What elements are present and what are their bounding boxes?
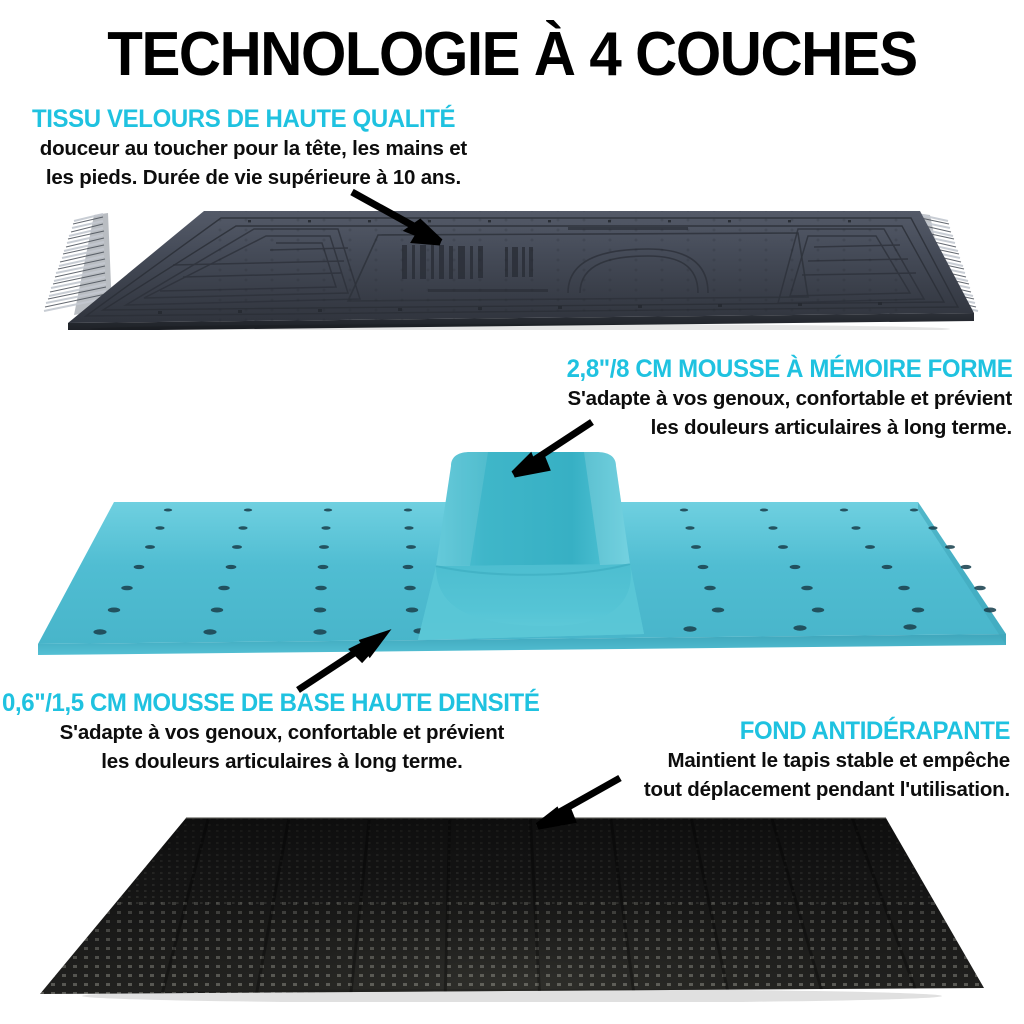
callout-base-foam-line-2: les douleurs articulaires à long terme. [2,747,562,776]
callout-velour: TISSU VELOURS DE HAUTE QUALITÉ douceur a… [32,104,473,192]
anti-slip-graphic [40,812,984,1002]
callout-base-foam-heading: 0,6"/1,5 CM MOUSSE DE BASE HAUTE DENSITÉ [2,688,539,718]
callout-anti-slip-line-1: Maintient le tapis stable et empêche [644,746,1010,775]
callout-memory-foam-heading: 2,8"/8 CM MOUSSE À MÉMOIRE FORME [566,354,1012,384]
callout-velour-line-1: douceur au toucher pour la tête, les mai… [32,134,473,163]
callout-memory-foam-line-1: S'adapte à vos genoux, confortable et pr… [548,384,1012,413]
arrow-to-antislip-icon [520,776,628,836]
callout-memory-foam-line-2: les douleurs articulaires à long terme. [548,413,1012,442]
callout-anti-slip-line-2: tout déplacement pendant l'utilisation. [644,775,1010,804]
callout-anti-slip: FOND ANTIDÉRAPANTE Maintient le tapis st… [644,716,1010,804]
velour-rug-graphic [8,205,1016,330]
arrow-to-velour-icon [340,186,462,258]
callout-velour-line-2: les pieds. Durée de vie supérieure à 10 … [32,163,473,192]
callout-memory-foam: 2,8"/8 CM MOUSSE À MÉMOIRE FORME S'adapt… [548,354,1012,442]
layer-velour-rug [8,205,1016,330]
callout-anti-slip-heading: FOND ANTIDÉRAPANTE [659,716,1010,746]
page-title: TECHNOLOGIE À 4 COUCHES [31,24,994,86]
layer-anti-slip-base [40,812,984,1002]
infographic-root: TECHNOLOGIE À 4 COUCHES [0,0,1024,1024]
callout-velour-heading: TISSU VELOURS DE HAUTE QUALITÉ [32,104,455,134]
callout-base-foam: 0,6"/1,5 CM MOUSSE DE BASE HAUTE DENSITÉ… [2,688,562,776]
callout-base-foam-line-1: S'adapte à vos genoux, confortable et pr… [2,718,562,747]
arrow-to-base-icon [292,628,398,696]
